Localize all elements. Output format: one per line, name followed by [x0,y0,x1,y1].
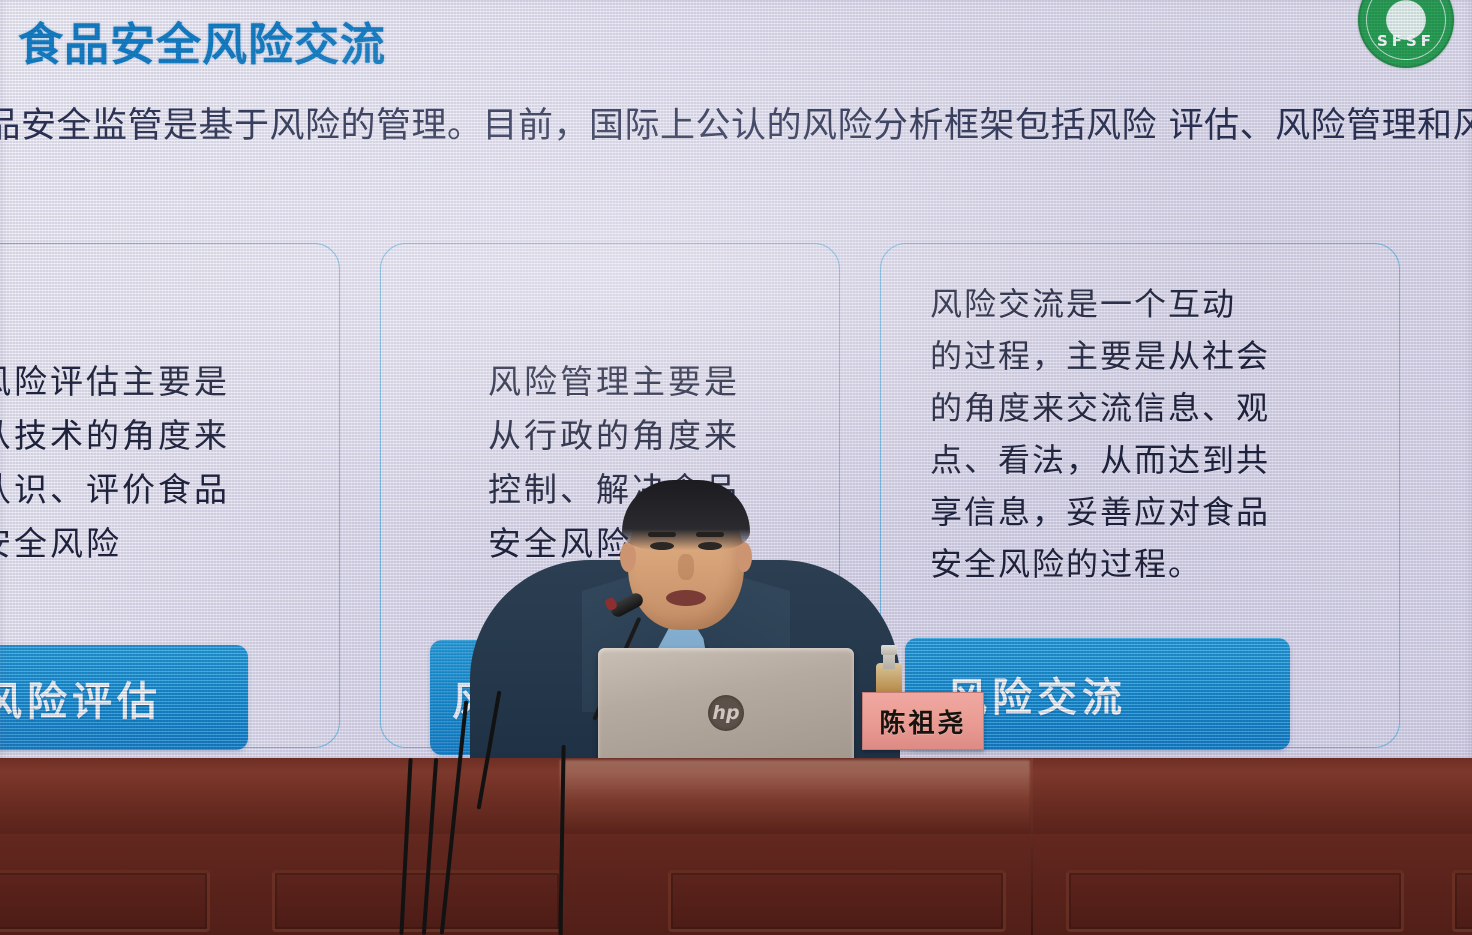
logo-label: SFSF [1377,32,1435,66]
bottle-neck [883,653,895,669]
press-conference-photo: 食品安全风险交流 食品安全监管是基于风险的管理。目前，国际上公认的风险分析框架包… [0,0,1472,935]
podium-highlight [560,760,1030,832]
podium-seam [1031,758,1033,935]
podium-panel [668,870,1006,932]
speaker-hair [622,480,750,550]
podium-panel [1452,870,1472,932]
speaker-ear-right [736,542,752,572]
laptop: hp [598,648,854,760]
slide-title: 食品安全风险交流 [18,8,386,73]
slide-header-paragraph: 食品安全监管是基于风险的管理。目前，国际上公认的风险分析框架包括风险 评估、风险… [0,97,1430,156]
speaker-nose [678,554,694,580]
slide-tag-risk-assessment: 风险评估 [0,645,248,750]
speaker-ear-left [620,542,636,572]
placard-name-text: 陈祖尧 [879,703,966,740]
speaker-eye-right [698,542,722,550]
podium-panel [0,870,210,932]
speaker-mouth [666,590,706,606]
bottle-cap [881,645,897,655]
hp-logo-icon: hp [708,695,744,731]
podium-panel [272,870,562,932]
podium-panel [1066,870,1404,932]
sfsf-logo-icon: SFSF [1358,0,1454,68]
podium-desk [0,758,1472,935]
panel-text-risk-assessment: 风险评估主要是 从技术的角度来 认识、评价食品 安全风险 [0,355,358,571]
name-placard: 陈祖尧 [862,692,984,750]
speaker-eyebrow-right [696,532,724,537]
speaker-eyebrow-left [648,532,676,537]
speaker-eye-left [650,542,674,550]
panel-text-risk-communication: 风险交流是一个互动 的过程，主要是从社会 的角度来交流信息、观 点、看法，从而达… [930,278,1390,590]
